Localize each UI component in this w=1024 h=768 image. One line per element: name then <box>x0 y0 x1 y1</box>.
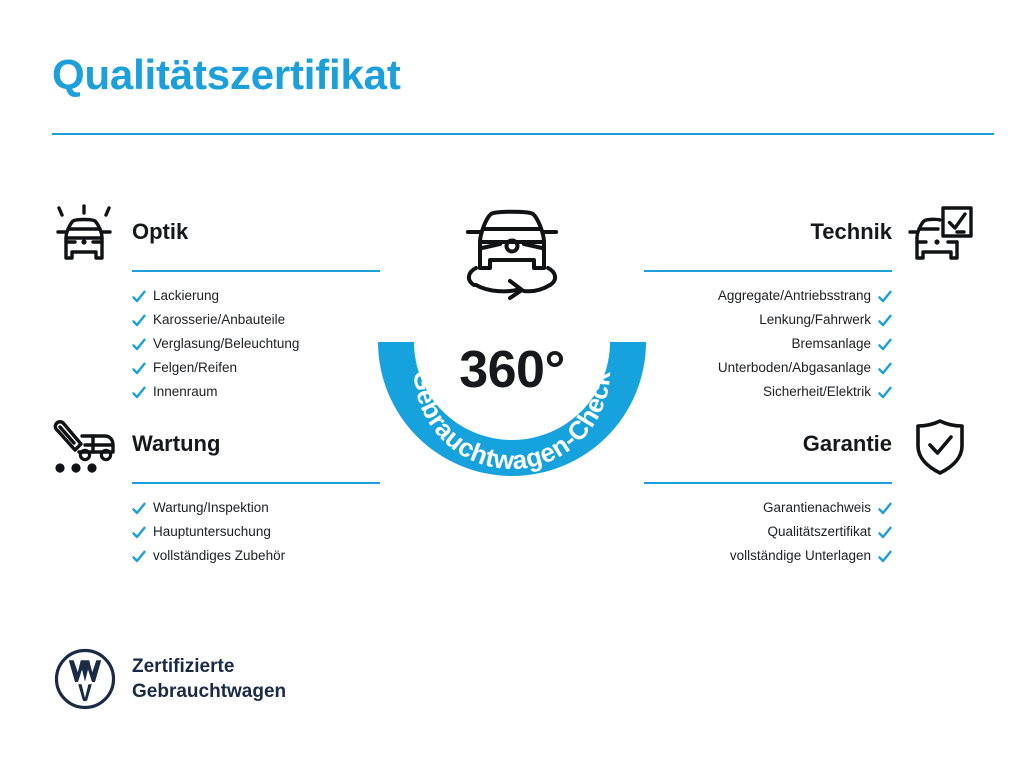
section-technik-underline <box>644 270 892 272</box>
list-item: Karosserie/Anbauteile <box>48 308 380 332</box>
list-item: Sicherheit/Elektrik <box>644 380 976 404</box>
list-item: Innenraum <box>48 380 380 404</box>
list-item-label: Aggregate/Antriebsstrang <box>718 284 871 308</box>
check-icon <box>132 360 146 374</box>
section-garantie-header: Garantie <box>644 412 976 484</box>
list-item: Lenkung/Fahrwerk <box>644 308 976 332</box>
check-icon <box>132 336 146 350</box>
check-icon <box>132 500 146 514</box>
check-icon <box>132 312 146 326</box>
section-optik-header: Optik <box>48 200 380 272</box>
section-optik-title-wrap: Optik <box>132 220 380 272</box>
section-optik: Optik Lackierung Karosserie/Anbauteile V… <box>48 200 380 404</box>
section-technik-header: Technik <box>644 200 976 272</box>
list-item-label: vollständige Unterlagen <box>730 544 871 568</box>
section-garantie-underline <box>644 482 892 484</box>
list-item: Bremsanlage <box>644 332 976 356</box>
vw-certified-logo: Zertifizierte Gebrauchtwagen <box>54 648 286 710</box>
shield-check-icon <box>904 414 976 480</box>
check-icon <box>878 336 892 350</box>
list-item-label: Lackierung <box>153 284 219 308</box>
car-front-shine-icon <box>48 202 120 268</box>
list-item: Felgen/Reifen <box>48 356 380 380</box>
list-item-label: Bremsanlage <box>791 332 871 356</box>
list-item: Hauptuntersuchung <box>48 520 380 544</box>
section-wartung-list: Wartung/Inspektion Hauptuntersuchung vol… <box>48 496 380 568</box>
check-icon <box>878 288 892 302</box>
vw-logo-text: Zertifizierte Gebrauchtwagen <box>132 654 286 704</box>
list-item-label: Felgen/Reifen <box>153 356 237 380</box>
badge-center-value: 360° <box>372 340 652 400</box>
gebrauchtwagen-check-badge: Gebrauchtwagen-Check 360° <box>372 192 652 492</box>
car-front-checkbox-icon <box>904 202 976 268</box>
section-technik-title: Technik <box>644 220 892 244</box>
section-optik-list: Lackierung Karosserie/Anbauteile Verglas… <box>48 284 380 404</box>
vw-logo-text-line1: Zertifizierte <box>132 654 286 679</box>
list-item: Qualitätszertifikat <box>644 520 976 544</box>
list-item: Wartung/Inspektion <box>48 496 380 520</box>
section-technik: Technik Aggregate/Antriebsstrang Lenkung… <box>644 200 976 404</box>
section-wartung-header: Wartung <box>48 412 380 484</box>
section-optik-underline <box>132 270 380 272</box>
section-wartung: Wartung Wartung/Inspektion Hauptuntersuc… <box>48 412 380 568</box>
section-wartung-title: Wartung <box>132 432 380 456</box>
section-technik-list: Aggregate/Antriebsstrang Lenkung/Fahrwer… <box>644 284 976 404</box>
section-garantie-title-wrap: Garantie <box>644 432 892 484</box>
list-item-label: vollständiges Zubehör <box>153 544 285 568</box>
list-item: Garantienachweis <box>644 496 976 520</box>
list-item-label: Qualitätszertifikat <box>767 520 871 544</box>
check-icon <box>132 384 146 398</box>
list-item: vollständige Unterlagen <box>644 544 976 568</box>
check-icon <box>132 288 146 302</box>
wrench-car-service-icon <box>48 414 120 480</box>
list-item-label: Hauptuntersuchung <box>153 520 271 544</box>
page-title: Qualitätszertifikat <box>52 52 401 98</box>
list-item-label: Karosserie/Anbauteile <box>153 308 285 332</box>
check-icon <box>878 360 892 374</box>
section-wartung-underline <box>132 482 380 484</box>
section-optik-title: Optik <box>132 220 380 244</box>
check-icon <box>878 500 892 514</box>
list-item-label: Lenkung/Fahrwerk <box>759 308 871 332</box>
check-icon <box>878 548 892 562</box>
list-item: Aggregate/Antriebsstrang <box>644 284 976 308</box>
list-item: Unterboden/Abgasanlage <box>644 356 976 380</box>
list-item: vollständiges Zubehör <box>48 544 380 568</box>
list-item-label: Garantienachweis <box>763 496 871 520</box>
list-item-label: Verglasung/Beleuchtung <box>153 332 299 356</box>
check-icon <box>132 524 146 538</box>
section-wartung-title-wrap: Wartung <box>132 432 380 484</box>
title-divider <box>52 133 994 135</box>
check-icon <box>878 312 892 326</box>
certificate-page: Qualitätszertifikat <box>0 0 1024 768</box>
list-item: Verglasung/Beleuchtung <box>48 332 380 356</box>
list-item-label: Sicherheit/Elektrik <box>763 380 871 404</box>
list-item-label: Unterboden/Abgasanlage <box>718 356 871 380</box>
check-icon <box>878 524 892 538</box>
vw-logo-text-line2: Gebrauchtwagen <box>132 679 286 704</box>
section-garantie: Garantie Garantienachweis Qualitätszerti… <box>644 412 976 568</box>
check-icon <box>878 384 892 398</box>
list-item-label: Wartung/Inspektion <box>153 496 269 520</box>
section-technik-title-wrap: Technik <box>644 220 892 272</box>
list-item: Lackierung <box>48 284 380 308</box>
section-garantie-list: Garantienachweis Qualitätszertifikat vol… <box>644 496 976 568</box>
check-icon <box>132 548 146 562</box>
list-item-label: Innenraum <box>153 380 218 404</box>
vw-logo-icon <box>54 648 116 710</box>
section-garantie-title: Garantie <box>644 432 892 456</box>
